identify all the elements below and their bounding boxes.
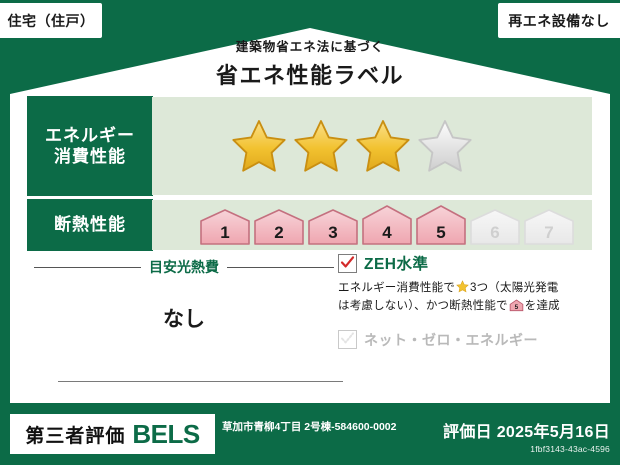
property-address: 草加市青柳4丁目 2号棟-584600-0002	[222, 420, 442, 434]
energy-label-line2: 消費性能	[54, 146, 126, 167]
section-divider	[58, 381, 343, 382]
insulation-house-filled: 2	[253, 208, 305, 246]
insulation-level-number: 7	[544, 223, 553, 242]
insulation-level-number: 5	[436, 223, 445, 242]
star-icon-filled	[230, 118, 288, 174]
energy-performance-value	[152, 97, 592, 195]
net-zero-energy-title: ネット・ゼロ・エネルギー	[364, 330, 538, 350]
evaluation-date-block: 評価日 2025年5月16日 1fbf3143-43ac-4596	[443, 418, 610, 454]
energy-cost-header: 目安光熱費	[34, 257, 334, 277]
insulation-level-number: 1	[220, 223, 229, 242]
bels-logo: BELS	[132, 419, 199, 450]
zeh-description: エネルギー消費性能で3つ（太陽光発電 は考慮しない）、かつ断熱性能で5を達成	[338, 280, 590, 316]
energy-cost-block: 目安光熱費 なし	[34, 257, 334, 333]
header: 建築物省エネ法に基づく 省エネ性能ラベル	[0, 36, 620, 90]
energy-cost-value: なし	[34, 303, 334, 333]
star-rating	[152, 118, 474, 174]
zeh-desc-part1: エネルギー消費性能で	[338, 282, 455, 294]
insulation-performance-value: 1234567	[152, 200, 592, 250]
insulation-level-scale: 1234567	[152, 204, 575, 246]
star-icon-filled	[354, 118, 412, 174]
zeh-desc-part3: は考慮しない）、かつ断熱性能で	[338, 300, 508, 312]
insulation-house-empty: 6	[469, 208, 521, 246]
check-icon	[340, 255, 355, 270]
third-party-label: 第三者評価	[25, 421, 125, 448]
evaluation-date: 評価日 2025年5月16日	[443, 418, 610, 442]
zeh-heading-line: ZEH水準	[338, 252, 590, 274]
insulation-performance-label: 断熱性能	[28, 200, 152, 250]
house-badge-icon-inline: 5	[509, 299, 524, 312]
svg-text:5: 5	[514, 304, 518, 311]
insulation-house-filled: 4	[361, 204, 413, 246]
star-icon-filled	[292, 118, 350, 174]
energy-label-line1: エネルギー	[45, 125, 135, 146]
insulation-house-filled: 3	[307, 208, 359, 246]
net-zero-checkbox[interactable]	[338, 330, 357, 349]
evaluation-id: 1fbf3143-43ac-4596	[443, 444, 610, 454]
evaluation-date-value: 2025年5月16日	[497, 424, 610, 441]
bels-certification-badge: 第三者評価 BELS	[10, 414, 215, 454]
page-title: 省エネ性能ラベル	[0, 58, 620, 90]
zeh-checkbox[interactable]	[338, 254, 357, 273]
evaluation-date-label: 評価日	[443, 424, 492, 441]
insulation-label-text: 断熱性能	[54, 214, 126, 235]
energy-performance-row: エネルギー 消費性能	[28, 97, 592, 195]
badge-building-type: 住宅（住戸）	[0, 3, 102, 38]
insulation-performance-row: 断熱性能 1234567	[28, 200, 592, 250]
zeh-title: ZEH水準	[364, 252, 429, 274]
footer: 第三者評価 BELS 草加市青柳4丁目 2号棟-584600-0002 評価日 …	[0, 408, 620, 465]
bels-energy-label: 住宅（住戸） 再エネ設備なし 建築物省エネ法に基づく 省エネ性能ラベル エネルギ…	[0, 0, 620, 465]
insulation-house-filled: 5	[415, 204, 467, 246]
rule-right	[227, 267, 334, 268]
zeh-desc-part4: を達成	[525, 300, 560, 312]
energy-cost-title: 目安光熱費	[149, 257, 219, 277]
badge-renewable-energy: 再エネ設備なし	[498, 3, 620, 38]
net-zero-energy-line: ネット・ゼロ・エネルギー	[338, 330, 590, 350]
zeh-desc-part2: 3つ（太陽光発電	[470, 282, 559, 294]
insulation-level-number: 6	[490, 223, 499, 242]
rule-left	[34, 267, 141, 268]
zeh-block: ZEH水準 エネルギー消費性能で3つ（太陽光発電 は考慮しない）、かつ断熱性能で…	[338, 252, 590, 350]
star-icon-empty	[416, 118, 474, 174]
insulation-level-number: 3	[328, 223, 337, 242]
star-icon-inline	[456, 280, 469, 293]
insulation-level-number: 4	[382, 223, 392, 242]
insulation-house-empty: 7	[523, 208, 575, 246]
insulation-level-number: 2	[274, 223, 283, 242]
ratings-card: エネルギー 消費性能 断熱性能 1234567 目安光熱費 なし	[28, 97, 592, 394]
check-icon-faint	[340, 331, 355, 346]
insulation-house-filled: 1	[199, 208, 251, 246]
header-subtitle: 建築物省エネ法に基づく	[0, 36, 620, 55]
energy-performance-label: エネルギー 消費性能	[28, 97, 152, 195]
